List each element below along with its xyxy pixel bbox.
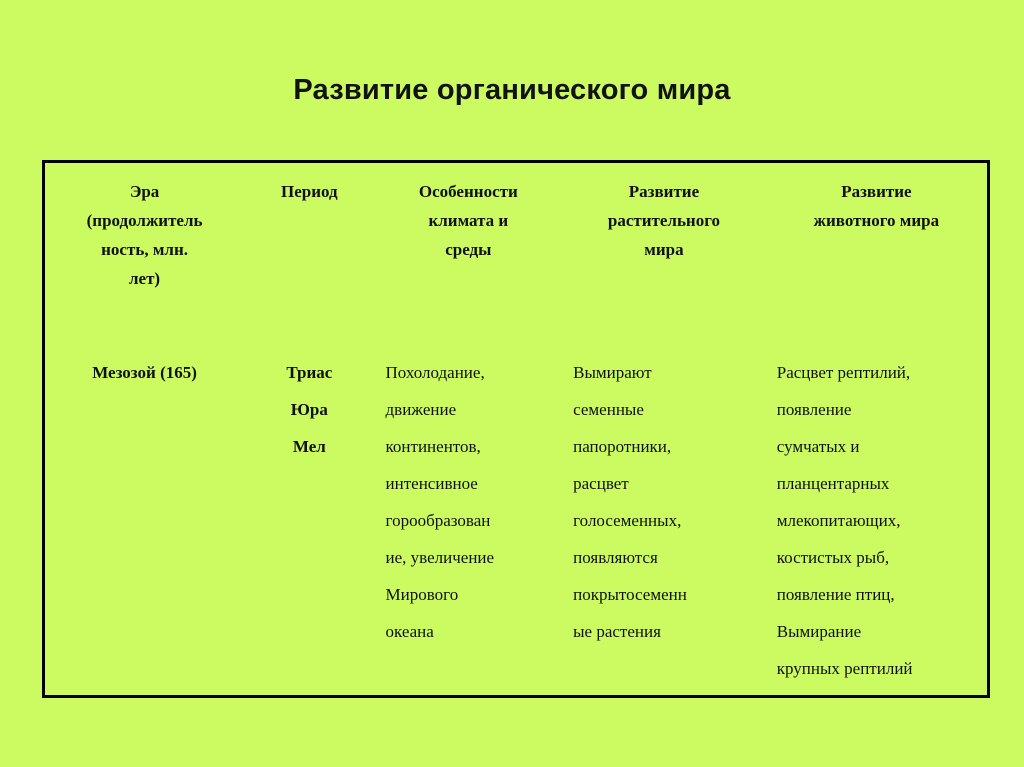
cell-line: Мезозой (165) [53,354,236,391]
header-line: Особенности [383,177,555,206]
cell-line: Мел [252,428,366,465]
cell-line: океана [386,613,553,650]
slide-canvas: { "theme": { "background": "#cbfa61", "b… [0,0,1024,767]
cell-line: папоротники, [573,428,756,465]
cell-line: континентов, [386,428,553,465]
cell-line: покрытосеменн [573,576,756,613]
column-header-climate: Особенности климата и среды [375,162,563,343]
cell-line: Юра [252,391,366,428]
header-line: мира [570,235,758,264]
cell-line: Похолодание, [386,354,553,391]
cell-line: ие, увеличение [386,539,553,576]
cell-plant-development: Вымирают семенные папоротники, расцвет г… [562,343,766,697]
header-line: Эра [53,177,236,206]
cell-animal-development: Расцвет рептилий, появление сумчатых и п… [766,343,989,697]
table-header-row: Эра (продолжитель ность, млн. лет) Перио… [44,162,989,343]
page-title: Развитие органического мира [0,74,1024,107]
cell-line: голосеменных, [573,502,756,539]
header-line: Развитие [570,177,758,206]
cell-climate: Похолодание, движение континентов, интен… [375,343,563,697]
cell-line: ые растения [573,613,756,650]
header-line: (продолжитель [53,206,236,235]
cell-period: Триас Юра Мел [244,343,374,697]
cell-line: крупных рептилий [777,650,977,687]
column-header-plant-development: Развитие растительного мира [562,162,766,343]
header-line: лет) [53,264,236,293]
organic-world-development-table: Эра (продолжитель ность, млн. лет) Перио… [42,160,990,698]
cell-line: костистых рыб, [777,539,977,576]
cell-line: Вымирание [777,613,977,650]
cell-line: появление птиц, [777,576,977,613]
column-header-era: Эра (продолжитель ность, млн. лет) [44,162,245,343]
cell-line: появляются [573,539,756,576]
header-line: животного мира [774,206,979,235]
column-header-period: Период [244,162,374,343]
header-line: Развитие [774,177,979,206]
cell-line: сумчатых и [777,428,977,465]
cell-line: горообразован [386,502,553,539]
cell-line: Расцвет рептилий, [777,354,977,391]
cell-line: семенные [573,391,756,428]
cell-era: Мезозой (165) [44,343,245,697]
header-line: среды [383,235,555,264]
cell-line: Триас [252,354,366,391]
header-line: растительного [570,206,758,235]
cell-line: Вымирают [573,354,756,391]
cell-line: интенсивное [386,465,553,502]
cell-line: движение [386,391,553,428]
cell-line: млекопитающих, [777,502,977,539]
cell-line: Мирового [386,576,553,613]
header-line: ность, млн. [53,235,236,264]
cell-line: расцвет [573,465,756,502]
header-line: Период [252,177,366,206]
cell-line: появление [777,391,977,428]
column-header-animal-development: Развитие животного мира [766,162,989,343]
header-line: климата и [383,206,555,235]
cell-line: планцентарных [777,465,977,502]
table-row: Мезозой (165) Триас Юра Мел Похолодание,… [44,343,989,697]
